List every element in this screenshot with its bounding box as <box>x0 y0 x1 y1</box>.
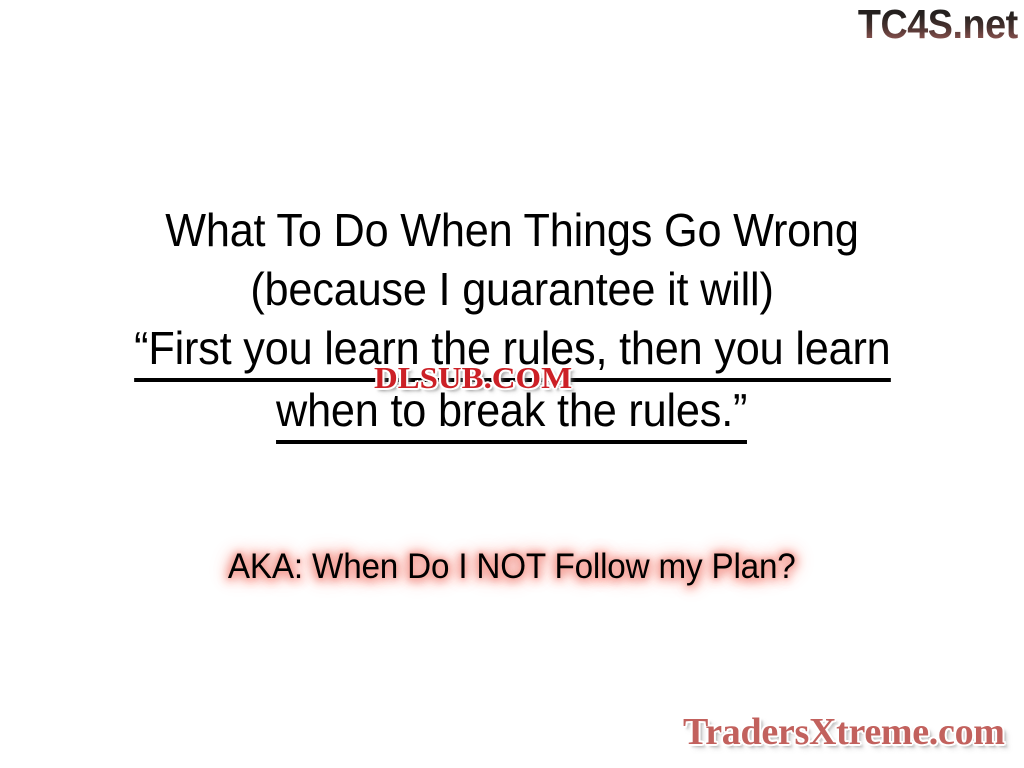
presentation-slide: TC4S.net What To Do When Things Go Wrong… <box>0 0 1024 768</box>
slide-title-line-1: What To Do When Things Go Wrong <box>31 202 994 259</box>
tc4s-watermark: TC4S.net <box>858 2 1018 46</box>
slide-subheading: AKA: When Do I NOT Follow my Plan? <box>228 546 796 588</box>
dlsub-watermark: DLSUB.COM <box>374 362 572 393</box>
tradersxtreme-watermark: TradersXtreme.com <box>683 712 1005 752</box>
slide-subheading-wrapper: AKA: When Do I NOT Follow my Plan? <box>0 546 1024 588</box>
slide-title-line-2: (because I guarantee it will) <box>31 261 994 318</box>
